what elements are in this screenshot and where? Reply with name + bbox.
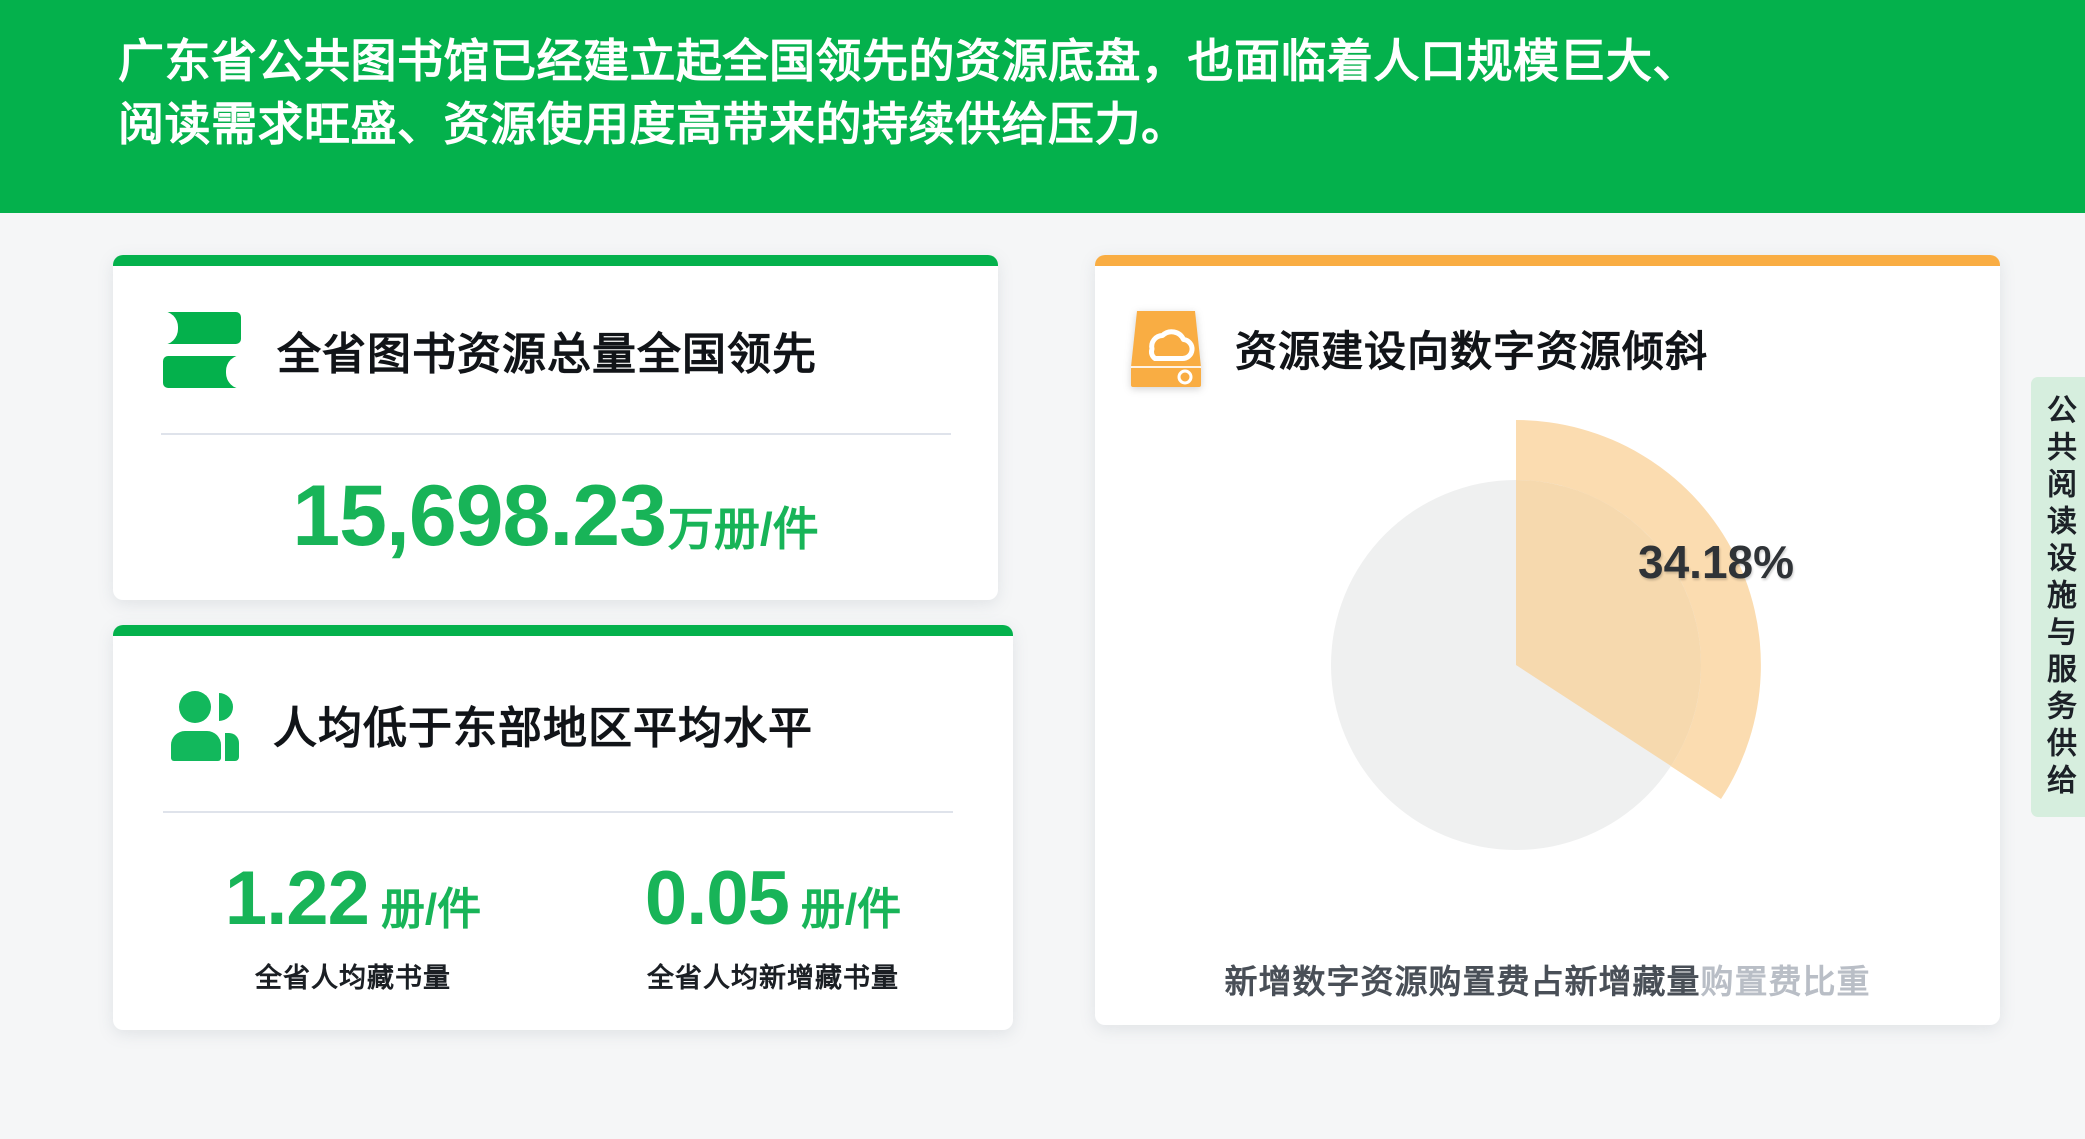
- stat-new-holdings-unit: 册/件: [801, 885, 901, 934]
- card-per-capita: 人均低于东部地区平均水平 1.22册/件 全省人均藏书量 0.05册/件 全省人…: [113, 625, 1013, 1030]
- card-total-header: 全省图书资源总量全国领先: [163, 310, 817, 390]
- stat-new-holdings-caption: 全省人均新增藏书量: [563, 956, 983, 995]
- stat-holdings-per-capita: 1.22册/件 全省人均藏书量: [143, 855, 563, 995]
- header-title-line2: 阅读需求旺盛、资源使用度高带来的持续供给压力。: [118, 93, 1998, 156]
- card-digital-resources: 资源建设向数字资源倾斜 34.18% 新增数字资源购置费占新增藏量购置费比重: [1095, 255, 2000, 1025]
- pie-caption-faded: 购置费比重: [1701, 963, 1871, 1000]
- header-banner: 广东省公共图书馆已经建立起全国领先的资源底盘，也面临着人口规模巨大、 阅读需求旺…: [0, 0, 2085, 213]
- card-per-capita-divider: [163, 811, 953, 813]
- stat-holdings-caption: 全省人均藏书量: [143, 956, 563, 995]
- stat-new-holdings-value: 0.05: [645, 856, 789, 941]
- card-digital-title: 资源建设向数字资源倾斜: [1235, 318, 1708, 379]
- total-resources-stat: 15,698.23万册/件: [113, 467, 998, 566]
- card-per-capita-header: 人均低于东部地区平均水平: [165, 683, 813, 765]
- card-accent-bar: [113, 255, 998, 266]
- card-digital-header: 资源建设向数字资源倾斜: [1125, 305, 1708, 391]
- card-total-resources: 全省图书资源总量全国领先 15,698.23万册/件: [113, 255, 998, 600]
- stat-holdings-unit: 册/件: [381, 885, 481, 934]
- cloud-storage-icon: [1125, 305, 1207, 391]
- side-tab-section-label[interactable]: 公共阅读设施与服务供给: [2031, 377, 2085, 817]
- pie-data-label: 34.18%: [1638, 535, 1794, 589]
- pie-chart: 34.18%: [1095, 395, 2000, 955]
- total-resources-unit: 万册/件: [668, 503, 819, 555]
- card-accent-bar: [1095, 255, 2000, 266]
- stat-holdings-value: 1.22: [225, 856, 369, 941]
- card-total-divider: [161, 433, 951, 435]
- header-title: 广东省公共图书馆已经建立起全国领先的资源底盘，也面临着人口规模巨大、 阅读需求旺…: [118, 30, 1998, 157]
- people-icon: [165, 683, 247, 765]
- pie-chart-svg: [1228, 395, 1868, 955]
- pie-caption-strong: 新增数字资源购置费占新增藏量: [1225, 963, 1701, 1000]
- header-title-line1: 广东省公共图书馆已经建立起全国领先的资源底盘，也面临着人口规模巨大、: [118, 30, 1998, 93]
- card-per-capita-title: 人均低于东部地区平均水平: [273, 692, 813, 756]
- books-icon: [163, 310, 241, 390]
- infographic-page: 广东省公共图书馆已经建立起全国领先的资源底盘，也面临着人口规模巨大、 阅读需求旺…: [0, 0, 2085, 1139]
- pie-chart-caption: 新增数字资源购置费占新增藏量购置费比重: [1095, 955, 2000, 1003]
- per-capita-stat-row: 1.22册/件 全省人均藏书量 0.05册/件 全省人均新增藏书量: [143, 855, 983, 995]
- card-accent-bar: [113, 625, 1013, 636]
- stat-new-holdings-per-capita: 0.05册/件 全省人均新增藏书量: [563, 855, 983, 995]
- side-tab-label: 公共阅读设施与服务供给: [2043, 394, 2073, 801]
- total-resources-value: 15,698.23: [292, 468, 666, 564]
- card-total-title: 全省图书资源总量全国领先: [277, 318, 817, 382]
